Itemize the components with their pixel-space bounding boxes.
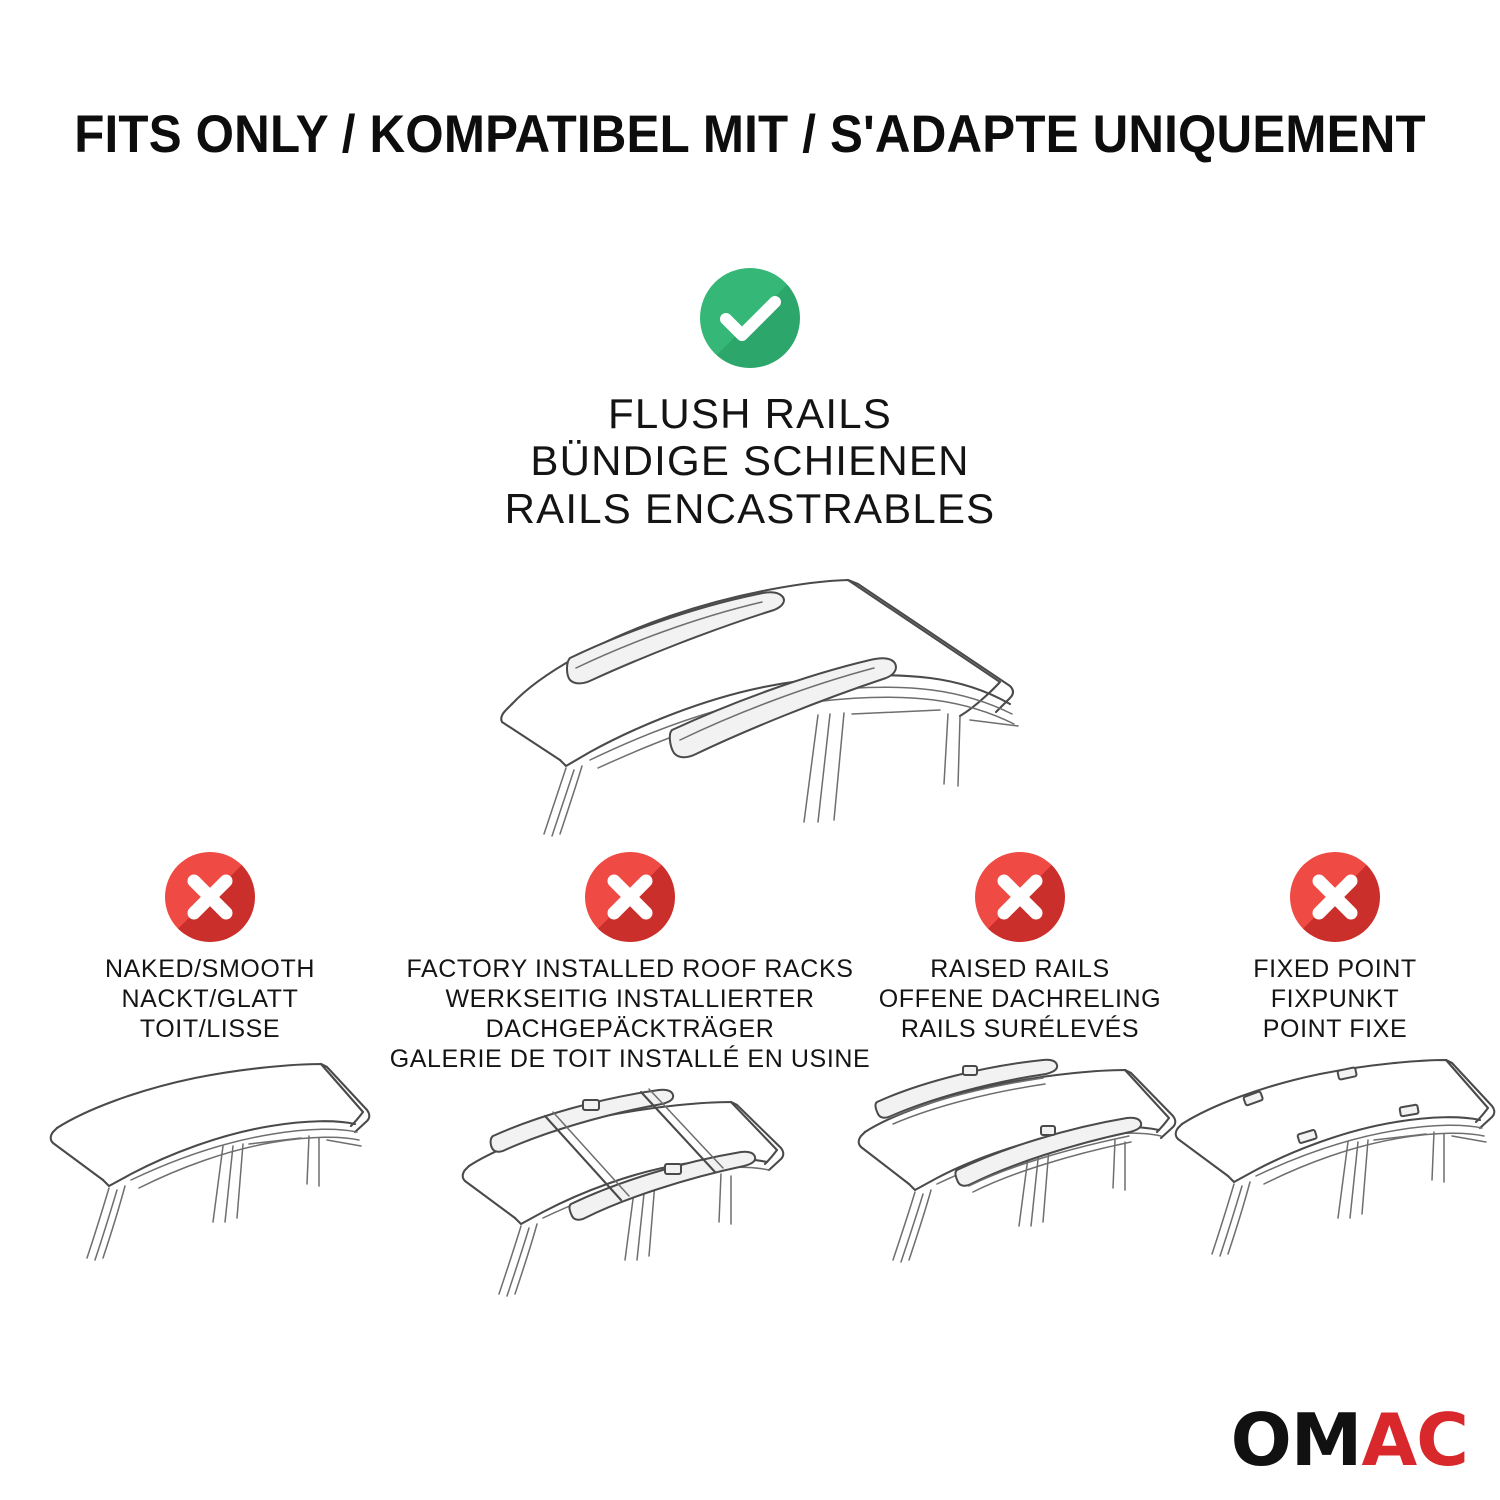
fits-title: FLUSH RAILS BÜNDIGE SCHIENEN RAILS ENCAS… <box>505 390 996 532</box>
not-fits-column-raised-rails: RAISED RAILS OFFENE DACHRELING RAILS SUR… <box>855 852 1185 1268</box>
label-line-en: FACTORY INSTALLED ROOF RACKS <box>390 954 871 984</box>
not-fits-labels-naked: NAKED/SMOOTH NACKT/GLATT TOIT/LISSE <box>105 954 315 1044</box>
not-fits-labels-factory-racks: FACTORY INSTALLED ROOF RACKS WERKSEITIG … <box>390 954 871 1074</box>
not-fits-column-fixed-point: FIXED POINT FIXPUNKT POINT FIXE <box>1185 852 1485 1268</box>
fits-title-line-fr: RAILS ENCASTRABLES <box>505 485 996 532</box>
label-line-de: OFFENE DACHRELING <box>879 984 1161 1014</box>
label-line-de-2: DACHGEPÄCKTRÄGER <box>390 1014 871 1044</box>
label-line-en: RAISED RAILS <box>879 954 1161 984</box>
label-line-fr: TOIT/LISSE <box>105 1014 315 1044</box>
logo-text-red: AC <box>1361 1404 1468 1476</box>
label-line-fr: GALERIE DE TOIT INSTALLÉ EN USINE <box>390 1044 871 1074</box>
label-line-de: NACKT/GLATT <box>105 984 315 1014</box>
car-roof-naked-illustration <box>45 1058 375 1268</box>
label-line-de-1: WERKSEITIG INSTALLIERTER <box>390 984 871 1014</box>
label-line-fr: POINT FIXE <box>1253 1014 1417 1044</box>
fits-title-line-en: FLUSH RAILS <box>505 390 996 437</box>
cross-circle-icon <box>585 852 675 942</box>
cross-circle-icon <box>975 852 1065 942</box>
logo-text-dark: OM <box>1231 1404 1362 1476</box>
not-fits-grid: NAKED/SMOOTH NACKT/GLATT TOIT/LISSE <box>0 852 1500 1298</box>
not-fits-column-naked: NAKED/SMOOTH NACKT/GLATT TOIT/LISSE <box>15 852 405 1268</box>
not-fits-labels-fixed-point: FIXED POINT FIXPUNKT POINT FIXE <box>1253 954 1417 1044</box>
not-fits-column-factory-racks: FACTORY INSTALLED ROOF RACKS WERKSEITIG … <box>405 852 855 1298</box>
label-line-de: FIXPUNKT <box>1253 984 1417 1014</box>
fits-section: FLUSH RAILS BÜNDIGE SCHIENEN RAILS ENCAS… <box>0 268 1500 844</box>
car-roof-factory-racks-illustration <box>453 1088 808 1298</box>
omac-logo: OMAC <box>1231 1404 1468 1476</box>
fits-title-line-de: BÜNDIGE SCHIENEN <box>505 437 996 484</box>
car-roof-raised-rails-illustration <box>845 1058 1195 1268</box>
label-line-fr: RAILS SURÉLEVÉS <box>879 1014 1161 1044</box>
page-title: FITS ONLY / KOMPATIBEL MIT / S'ADAPTE UN… <box>53 104 1448 165</box>
label-line-en: FIXED POINT <box>1253 954 1417 984</box>
cross-circle-icon <box>165 852 255 942</box>
check-circle-icon <box>700 268 800 368</box>
car-roof-flush-rails-illustration <box>440 554 1060 844</box>
cross-circle-icon <box>1290 852 1380 942</box>
header: FITS ONLY / KOMPATIBEL MIT / S'ADAPTE UN… <box>0 104 1500 165</box>
not-fits-labels-raised-rails: RAISED RAILS OFFENE DACHRELING RAILS SUR… <box>879 954 1161 1044</box>
car-roof-fixed-point-illustration <box>1170 1058 1500 1268</box>
label-line-en: NAKED/SMOOTH <box>105 954 315 984</box>
